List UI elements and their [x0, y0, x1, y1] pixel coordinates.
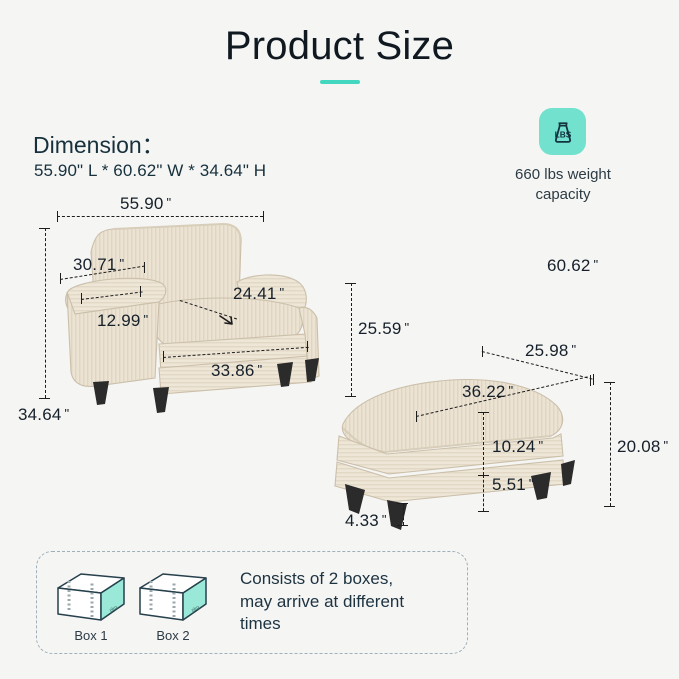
- tick-36-22-right: [590, 375, 591, 386]
- dimline-20-08: [610, 382, 611, 506]
- weight-capacity-line1: 660 lbs weight: [489, 165, 637, 185]
- title-underline-accent: [320, 80, 360, 84]
- dimline-10-24: [483, 412, 484, 475]
- weight-capacity-caption: 660 lbs weight capacity: [489, 165, 637, 206]
- measure-10-24: 10.24": [492, 437, 543, 457]
- tick-33-86-right: [307, 341, 308, 352]
- tick-10-24-top: [478, 412, 489, 413]
- page-title: Product Size: [0, 24, 679, 69]
- tick-25-59-bottom: [345, 396, 356, 397]
- measure-60-62: 60.62": [547, 256, 598, 276]
- product-size-infographic: Product Size Dimension： 55.90" L * 60.62…: [0, 0, 679, 679]
- shipping-box-icon-2: pkg: [137, 570, 209, 631]
- tick-5-51-bottom: [478, 511, 489, 512]
- svg-text:LBS: LBS: [554, 129, 571, 139]
- packaging-note-line3: times: [240, 613, 455, 636]
- weight-capacity-badge: LBS: [539, 108, 586, 155]
- tick-30-71-right: [144, 262, 145, 273]
- packaging-note: Consists of 2 boxes, may arrive at diffe…: [240, 568, 455, 636]
- tick-12-99-right: [140, 286, 141, 297]
- weight-lbs-icon: LBS: [546, 115, 580, 149]
- measure-12-99: 12.99": [97, 311, 148, 331]
- dimline-25-59: [351, 283, 352, 396]
- measure-24-41: 24.41": [233, 284, 284, 304]
- dimline-4-33: [403, 503, 404, 525]
- tick-25-98-right: [593, 374, 594, 385]
- dimension-summary: 55.90" L * 60.62" W * 34.64" H: [34, 161, 266, 181]
- measure-55-90: 55.90": [120, 194, 171, 214]
- tick-55-90-right: [263, 211, 264, 222]
- shipping-box-icon-1: pkg: [55, 570, 127, 631]
- measure-25-59: 25.59": [358, 319, 409, 339]
- tick-20-08-bottom: [604, 506, 615, 507]
- packaging-note-line2: may arrive at different: [240, 591, 455, 614]
- box-caption-1: Box 1: [56, 628, 126, 643]
- arrowhead-24-41: [216, 310, 236, 328]
- measure-20-08: 20.08": [617, 437, 668, 457]
- packaging-note-line1: Consists of 2 boxes,: [240, 568, 455, 591]
- dimline-55-90: [57, 216, 263, 217]
- dimline-34-64: [45, 228, 46, 398]
- measure-4-33: 4.33": [345, 511, 387, 531]
- tick-34-64-bottom: [39, 398, 50, 399]
- measure-34-64: 34.64": [18, 405, 69, 425]
- measure-30-71: 30.71": [73, 255, 124, 275]
- tick-4-33-bottom: [397, 525, 408, 526]
- weight-capacity-line2: capacity: [489, 185, 637, 205]
- ottoman-illustration: [325, 372, 590, 532]
- measure-33-86: 33.86": [211, 361, 262, 381]
- dimline-5-51: [483, 475, 484, 511]
- box-caption-2: Box 2: [138, 628, 208, 643]
- measure-25-98: 25.98": [525, 341, 576, 361]
- measure-5-51: 5.51": [492, 475, 534, 495]
- measure-36-22: 36.22": [462, 382, 513, 402]
- dimension-heading: Dimension：: [33, 126, 165, 160]
